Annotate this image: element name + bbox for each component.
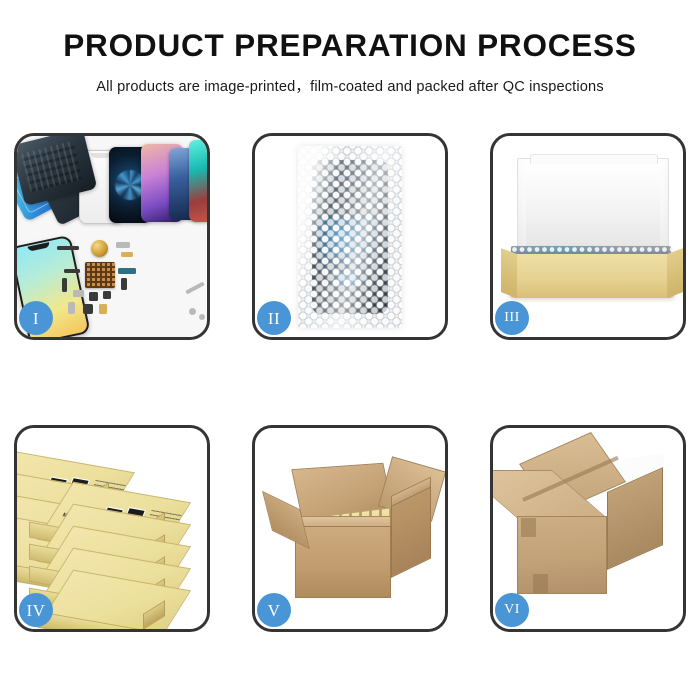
small-part	[118, 268, 136, 274]
small-part	[64, 269, 80, 273]
process-step-grid: I II	[14, 133, 686, 633]
step-numeral: II	[268, 310, 280, 327]
small-part	[103, 291, 111, 299]
step-1-illustration: I	[17, 136, 207, 337]
step-3-illustration: III	[493, 136, 683, 337]
sealed-shipping-carton	[507, 458, 677, 608]
step-6-illustration: VI	[493, 428, 683, 629]
page-subtitle: All products are image-printed，film-coat…	[96, 75, 604, 96]
small-part	[116, 242, 130, 248]
step-badge-5: V	[257, 593, 291, 627]
plastic-sheen	[298, 146, 402, 328]
step-badge-4: IV	[19, 593, 53, 627]
step-numeral: I	[33, 310, 39, 327]
process-step-panel-2: II	[252, 133, 448, 340]
small-part	[199, 314, 205, 320]
kraft-box-tray	[509, 254, 675, 298]
small-part	[83, 304, 93, 314]
small-part	[121, 278, 127, 290]
process-step-panel-4: Mobile Phone Spare Parts	[14, 425, 210, 632]
small-part	[185, 282, 205, 295]
small-part	[121, 252, 133, 257]
step-badge-6: VI	[495, 593, 529, 627]
open-shipping-carton	[273, 458, 437, 608]
chip-grid-part	[85, 262, 115, 288]
header: PRODUCT PREPARATION PROCESS All products…	[0, 0, 700, 118]
teal-gradient-phone	[189, 140, 207, 222]
small-part	[89, 292, 98, 301]
step-2-illustration: II	[255, 136, 445, 337]
process-step-panel-5: V	[252, 425, 448, 632]
process-step-panel-1: I	[14, 133, 210, 340]
page-title: PRODUCT PREPARATION PROCESS	[63, 30, 636, 62]
step-5-illustration: V	[255, 428, 445, 629]
step-numeral: VI	[504, 603, 520, 617]
bubble-wrap-bag	[298, 146, 402, 328]
small-part	[57, 246, 79, 250]
small-part	[189, 308, 196, 315]
step-badge-2: II	[257, 301, 291, 335]
step-badge-1: I	[19, 301, 53, 335]
carton-tape-tab-top	[521, 518, 536, 537]
small-part	[68, 302, 75, 314]
product-preparation-infographic: PRODUCT PREPARATION PROCESS All products…	[0, 0, 700, 700]
process-step-panel-3: III	[490, 133, 686, 340]
step-4-illustration: Mobile Phone Spare Parts	[17, 428, 207, 629]
carton-tape-tab-bottom	[533, 574, 548, 593]
copper-coil-part	[91, 240, 108, 257]
small-part	[73, 290, 84, 297]
process-step-panel-6: VI	[490, 425, 686, 632]
step-numeral: IV	[27, 602, 46, 619]
small-part	[62, 278, 67, 292]
step-numeral: V	[268, 602, 281, 619]
step-numeral: III	[504, 311, 520, 325]
carton-front-face	[295, 526, 391, 598]
step-badge-3: III	[495, 301, 529, 335]
small-part	[99, 304, 107, 314]
